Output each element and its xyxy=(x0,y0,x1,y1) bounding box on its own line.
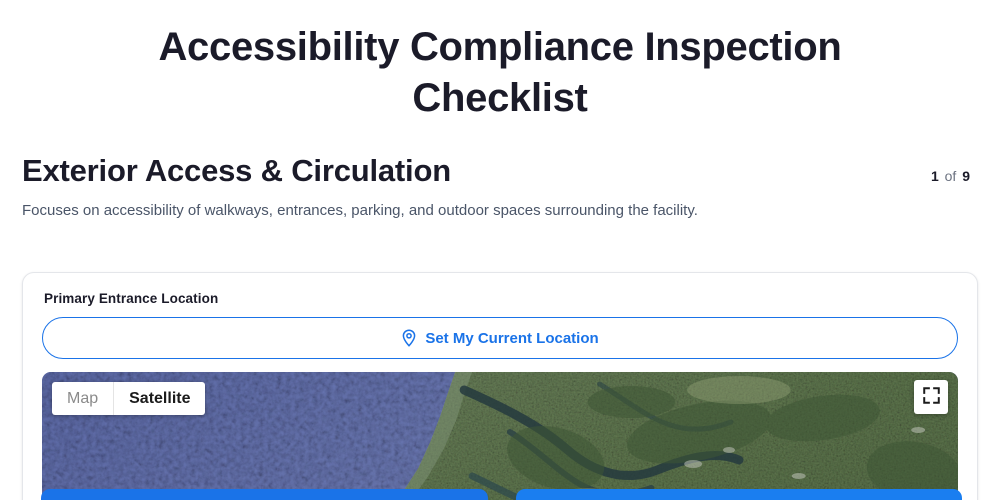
page-title: Accessibility Compliance Inspection Chec… xyxy=(0,0,1000,124)
section-counter-current: 1 xyxy=(931,168,939,184)
app-root: Accessibility Compliance Inspection Chec… xyxy=(0,0,1000,500)
map-type-satellite-button[interactable]: Satellite xyxy=(114,382,205,415)
map-type-switch[interactable]: Map Satellite xyxy=(52,382,205,415)
field-label-primary-entrance-location: Primary Entrance Location xyxy=(44,291,958,306)
set-current-location-button[interactable]: Set My Current Location xyxy=(42,317,958,359)
section-counter: 1 of 9 xyxy=(931,168,970,189)
section-header: Exterior Access & Circulation 1 of 9 xyxy=(0,124,1000,189)
section-counter-total: 9 xyxy=(962,168,970,184)
map-viewport[interactable]: Map Satellite xyxy=(42,372,958,500)
section-counter-separator: of xyxy=(945,168,957,184)
fullscreen-expand-icon xyxy=(923,387,940,407)
section-title: Exterior Access & Circulation xyxy=(22,154,451,189)
map-fullscreen-button[interactable] xyxy=(914,380,948,414)
form-action-bar xyxy=(41,489,962,500)
map-type-map-button[interactable]: Map xyxy=(52,382,113,415)
secondary-action-button[interactable] xyxy=(516,489,963,500)
primary-action-button[interactable] xyxy=(41,489,488,500)
set-current-location-label: Set My Current Location xyxy=(425,330,598,347)
section-description: Focuses on accessibility of walkways, en… xyxy=(0,189,1000,222)
map-pin-icon xyxy=(401,329,417,347)
entrance-location-card: Primary Entrance Location Set My Current… xyxy=(22,272,978,500)
